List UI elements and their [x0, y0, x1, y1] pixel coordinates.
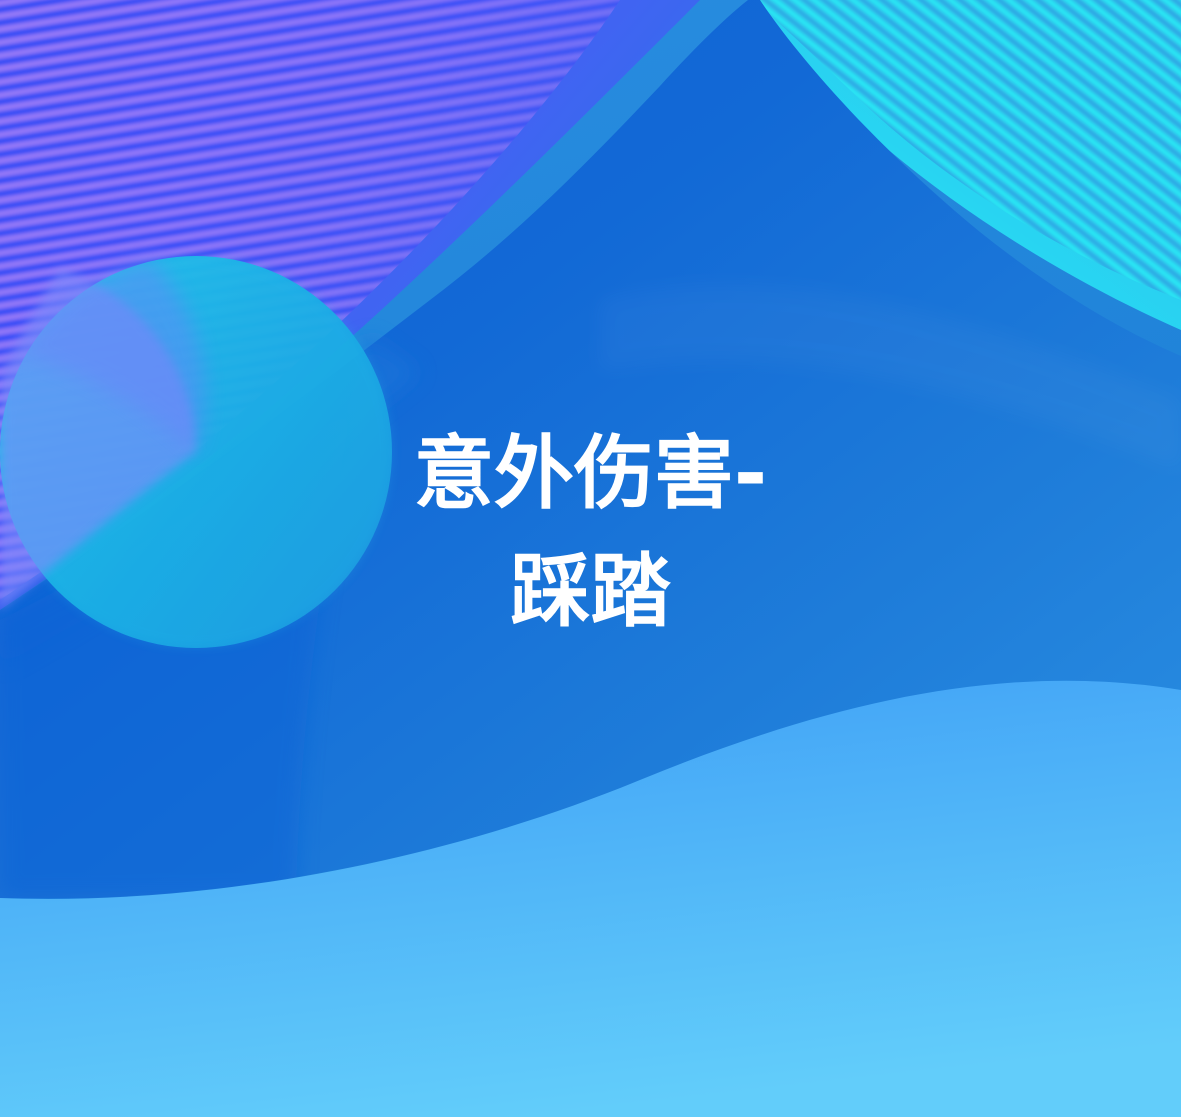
cyan-field	[750, 0, 1181, 330]
title-line-2: 踩踏	[60, 533, 1121, 651]
bottom-light-wave	[0, 681, 1181, 1117]
slide-title: 意外伤害- 踩踏	[0, 415, 1181, 651]
slide-canvas: 意外伤害- 踩踏	[0, 0, 1181, 1117]
title-line-1: 意外伤害-	[60, 415, 1121, 533]
